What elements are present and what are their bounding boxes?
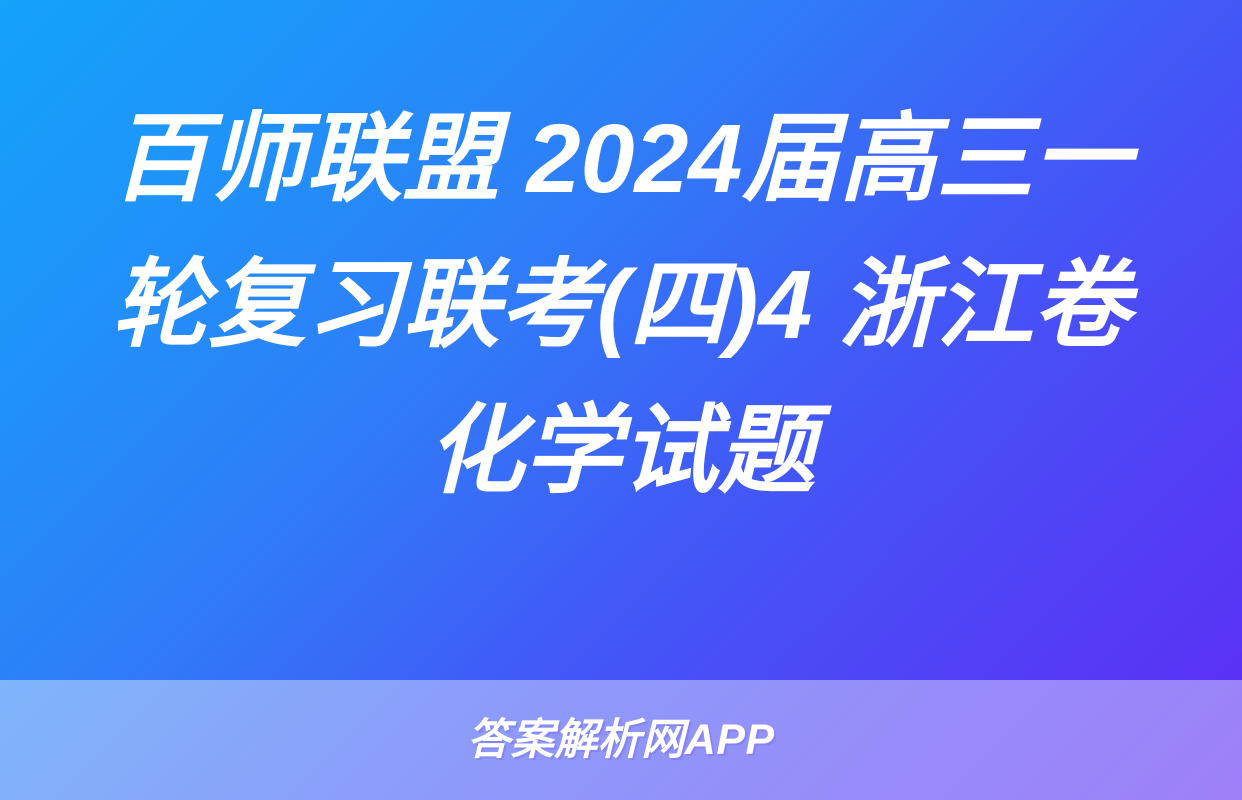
watermark-app-label: 答案解析网APP: [467, 719, 774, 762]
poster-canvas: 百师联盟 2024届高三一 轮复习联考(四)4 浙江卷 化学试题 答案解析网AP…: [0, 0, 1242, 800]
poster-title-block: 百师联盟 2024届高三一 轮复习联考(四)4 浙江卷 化学试题: [0, 0, 1242, 680]
page-title-line-3: 化学试题: [427, 378, 815, 524]
page-title-line-1: 百师联盟 2024届高三一: [112, 86, 1131, 232]
watermark-band: 答案解析网APP: [0, 680, 1242, 800]
page-title-line-2: 轮复习联考(四)4 浙江卷: [112, 232, 1131, 378]
